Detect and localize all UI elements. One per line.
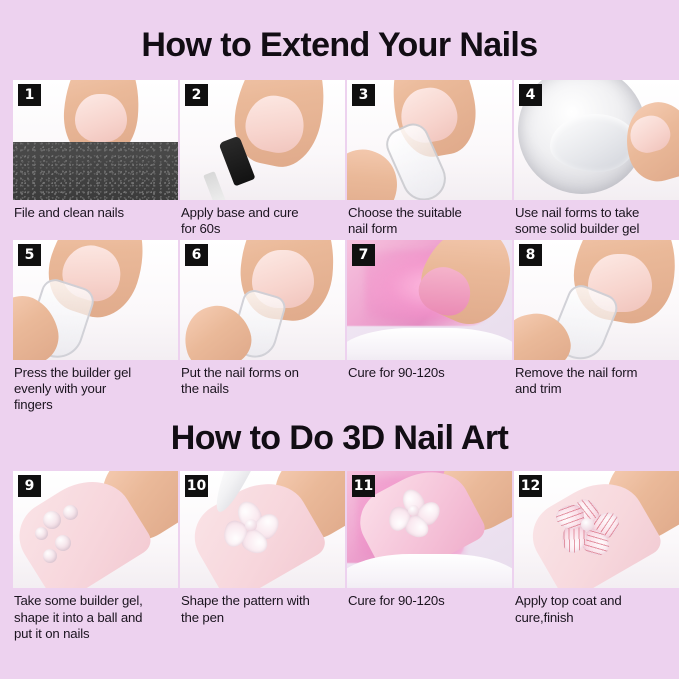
step-badge-3: 3 bbox=[352, 84, 375, 106]
step-image-12: 12 bbox=[514, 471, 679, 588]
builder-gel-blob bbox=[550, 114, 636, 172]
step-image-4: 4 bbox=[514, 80, 679, 200]
step-badge-2: 2 bbox=[185, 84, 208, 106]
step-cell-1: 1 File and clean nails bbox=[13, 80, 178, 237]
step-caption-5: Press the builder gel evenly with your f… bbox=[13, 360, 178, 413]
step-caption-2: Apply base and cure for 60s bbox=[180, 200, 345, 237]
nail-file bbox=[13, 142, 178, 200]
infographic-page: How to Extend Your Nails 1 File and clea… bbox=[0, 0, 679, 679]
step-image-3: 3 bbox=[347, 80, 512, 200]
step-caption-4: Use nail forms to take some solid builde… bbox=[514, 200, 679, 237]
step-caption-3: Choose the suitable nail form bbox=[347, 200, 512, 237]
section-title-3d-nail-art: How to Do 3D Nail Art bbox=[0, 413, 679, 455]
step-badge-10: 10 bbox=[185, 475, 208, 497]
step-badge-7: 7 bbox=[352, 244, 375, 266]
step-badge-12: 12 bbox=[519, 475, 542, 497]
step-image-7: 7 bbox=[347, 240, 512, 360]
step-cell-12: 12 Apply top coat and cure,finish bbox=[514, 471, 679, 641]
step-badge-5: 5 bbox=[18, 244, 41, 266]
step-caption-12: Apply top coat and cure,finish bbox=[514, 588, 679, 625]
step-image-11: 11 bbox=[347, 471, 512, 588]
step-badge-11: 11 bbox=[352, 475, 375, 497]
step-cell-3: 3 Choose the suitable nail form bbox=[347, 80, 512, 237]
step-image-10: 10 bbox=[180, 471, 345, 588]
step-cell-9: 9 Take some builder gel, shape it into a… bbox=[13, 471, 178, 641]
step-badge-8: 8 bbox=[519, 244, 542, 266]
step-grid-row-1: 1 File and clean nails 2 Apply base and … bbox=[0, 80, 679, 237]
step-caption-10: Shape the pattern with the pen bbox=[180, 588, 345, 625]
step-badge-4: 4 bbox=[519, 84, 542, 106]
step-caption-11: Cure for 90-120s bbox=[347, 588, 512, 609]
step-cell-8: 8 Remove the nail form and trim bbox=[514, 240, 679, 413]
step-badge-9: 9 bbox=[18, 475, 41, 497]
step-cell-5: 5 Press the builder gel evenly with your… bbox=[13, 240, 178, 413]
step-image-1: 1 bbox=[13, 80, 178, 200]
step-caption-7: Cure for 90-120s bbox=[347, 360, 512, 381]
step-image-9: 9 bbox=[13, 471, 178, 588]
step-grid-row-3: 9 Take some builder gel, shape it into a… bbox=[0, 471, 679, 641]
step-grid-row-2: 5 Press the builder gel evenly with your… bbox=[0, 240, 679, 413]
step-badge-1: 1 bbox=[18, 84, 41, 106]
step-caption-6: Put the nail forms on the nails bbox=[180, 360, 345, 397]
step-cell-4: 4 Use nail forms to take some solid buil… bbox=[514, 80, 679, 237]
step-caption-8: Remove the nail form and trim bbox=[514, 360, 679, 397]
step-caption-1: File and clean nails bbox=[13, 200, 178, 221]
step-cell-2: 2 Apply base and cure for 60s bbox=[180, 80, 345, 237]
step-caption-9: Take some builder gel, shape it into a b… bbox=[13, 588, 178, 641]
step-badge-6: 6 bbox=[185, 244, 208, 266]
step-image-8: 8 bbox=[514, 240, 679, 360]
uv-lamp-front-lip bbox=[347, 328, 512, 360]
natural-nail bbox=[75, 94, 127, 142]
step-cell-10: 10 Shape the pattern with the pen bbox=[180, 471, 345, 641]
step-cell-6: 6 Put the nail forms on the nails bbox=[180, 240, 345, 413]
step-image-2: 2 bbox=[180, 80, 345, 200]
step-cell-7: 7 Cure for 90-120s bbox=[347, 240, 512, 413]
uv-lamp-front-lip bbox=[347, 554, 512, 588]
section-title-extend-nails: How to Extend Your Nails bbox=[0, 0, 679, 62]
step-image-6: 6 bbox=[180, 240, 345, 360]
step-cell-11: 11 Cure for 90-120s bbox=[347, 471, 512, 641]
step-image-5: 5 bbox=[13, 240, 178, 360]
